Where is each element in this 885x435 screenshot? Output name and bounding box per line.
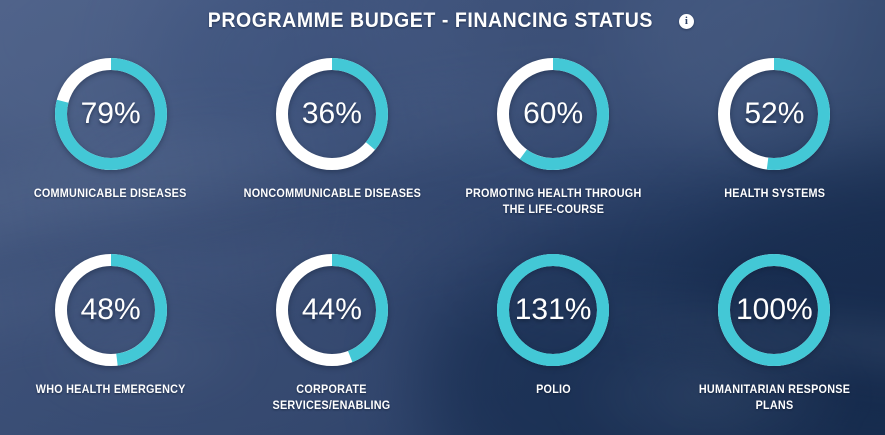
- gauge-card[interactable]: 48%WHO HEALTH EMERGENCY: [0, 240, 221, 435]
- gauge-card[interactable]: 100%HUMANITARIAN RESPONSE PLANS: [664, 240, 885, 435]
- programme-budget-dashboard: PROGRAMME BUDGET - FINANCING STATUS i 79…: [0, 0, 885, 435]
- donut-gauge: 44%: [270, 248, 394, 372]
- gauge-label: HEALTH SYSTEMS: [724, 186, 825, 202]
- gauge-label: POLIO: [536, 382, 571, 398]
- donut-gauge: 100%: [712, 248, 836, 372]
- gauge-label: HUMANITARIAN RESPONSE PLANS: [683, 382, 866, 415]
- gauge-card[interactable]: 44%CORPORATE SERVICES/ENABLING: [221, 240, 442, 435]
- donut-gauge: 36%: [270, 52, 394, 176]
- donut-gauge: 52%: [712, 52, 836, 176]
- gauge-label: PROMOTING HEALTH THROUGH THE LIFE-COURSE: [461, 186, 644, 219]
- dashboard-header: PROGRAMME BUDGET - FINANCING STATUS i: [0, 0, 885, 42]
- gauge-label: COMMUNICABLE DISEASES: [34, 186, 187, 202]
- page-title: PROGRAMME BUDGET - FINANCING STATUS: [208, 9, 653, 33]
- gauge-card[interactable]: 36%NONCOMMUNICABLE DISEASES: [221, 44, 442, 240]
- gauge-card[interactable]: 60%PROMOTING HEALTH THROUGH THE LIFE-COU…: [443, 44, 664, 240]
- gauge-label: NONCOMMUNICABLE DISEASES: [243, 186, 420, 202]
- gauge-card[interactable]: 52%HEALTH SYSTEMS: [664, 44, 885, 240]
- gauge-grid: 79%COMMUNICABLE DISEASES36%NONCOMMUNICAB…: [0, 44, 885, 435]
- gauge-label: CORPORATE SERVICES/ENABLING: [240, 382, 423, 415]
- gauge-label: WHO HEALTH EMERGENCY: [36, 382, 186, 398]
- donut-gauge: 60%: [491, 52, 615, 176]
- donut-gauge: 131%: [491, 248, 615, 372]
- gauge-card[interactable]: 131%POLIO: [443, 240, 664, 435]
- donut-gauge: 48%: [49, 248, 173, 372]
- info-icon[interactable]: i: [679, 14, 694, 29]
- gauge-card[interactable]: 79%COMMUNICABLE DISEASES: [0, 44, 221, 240]
- donut-gauge: 79%: [49, 52, 173, 176]
